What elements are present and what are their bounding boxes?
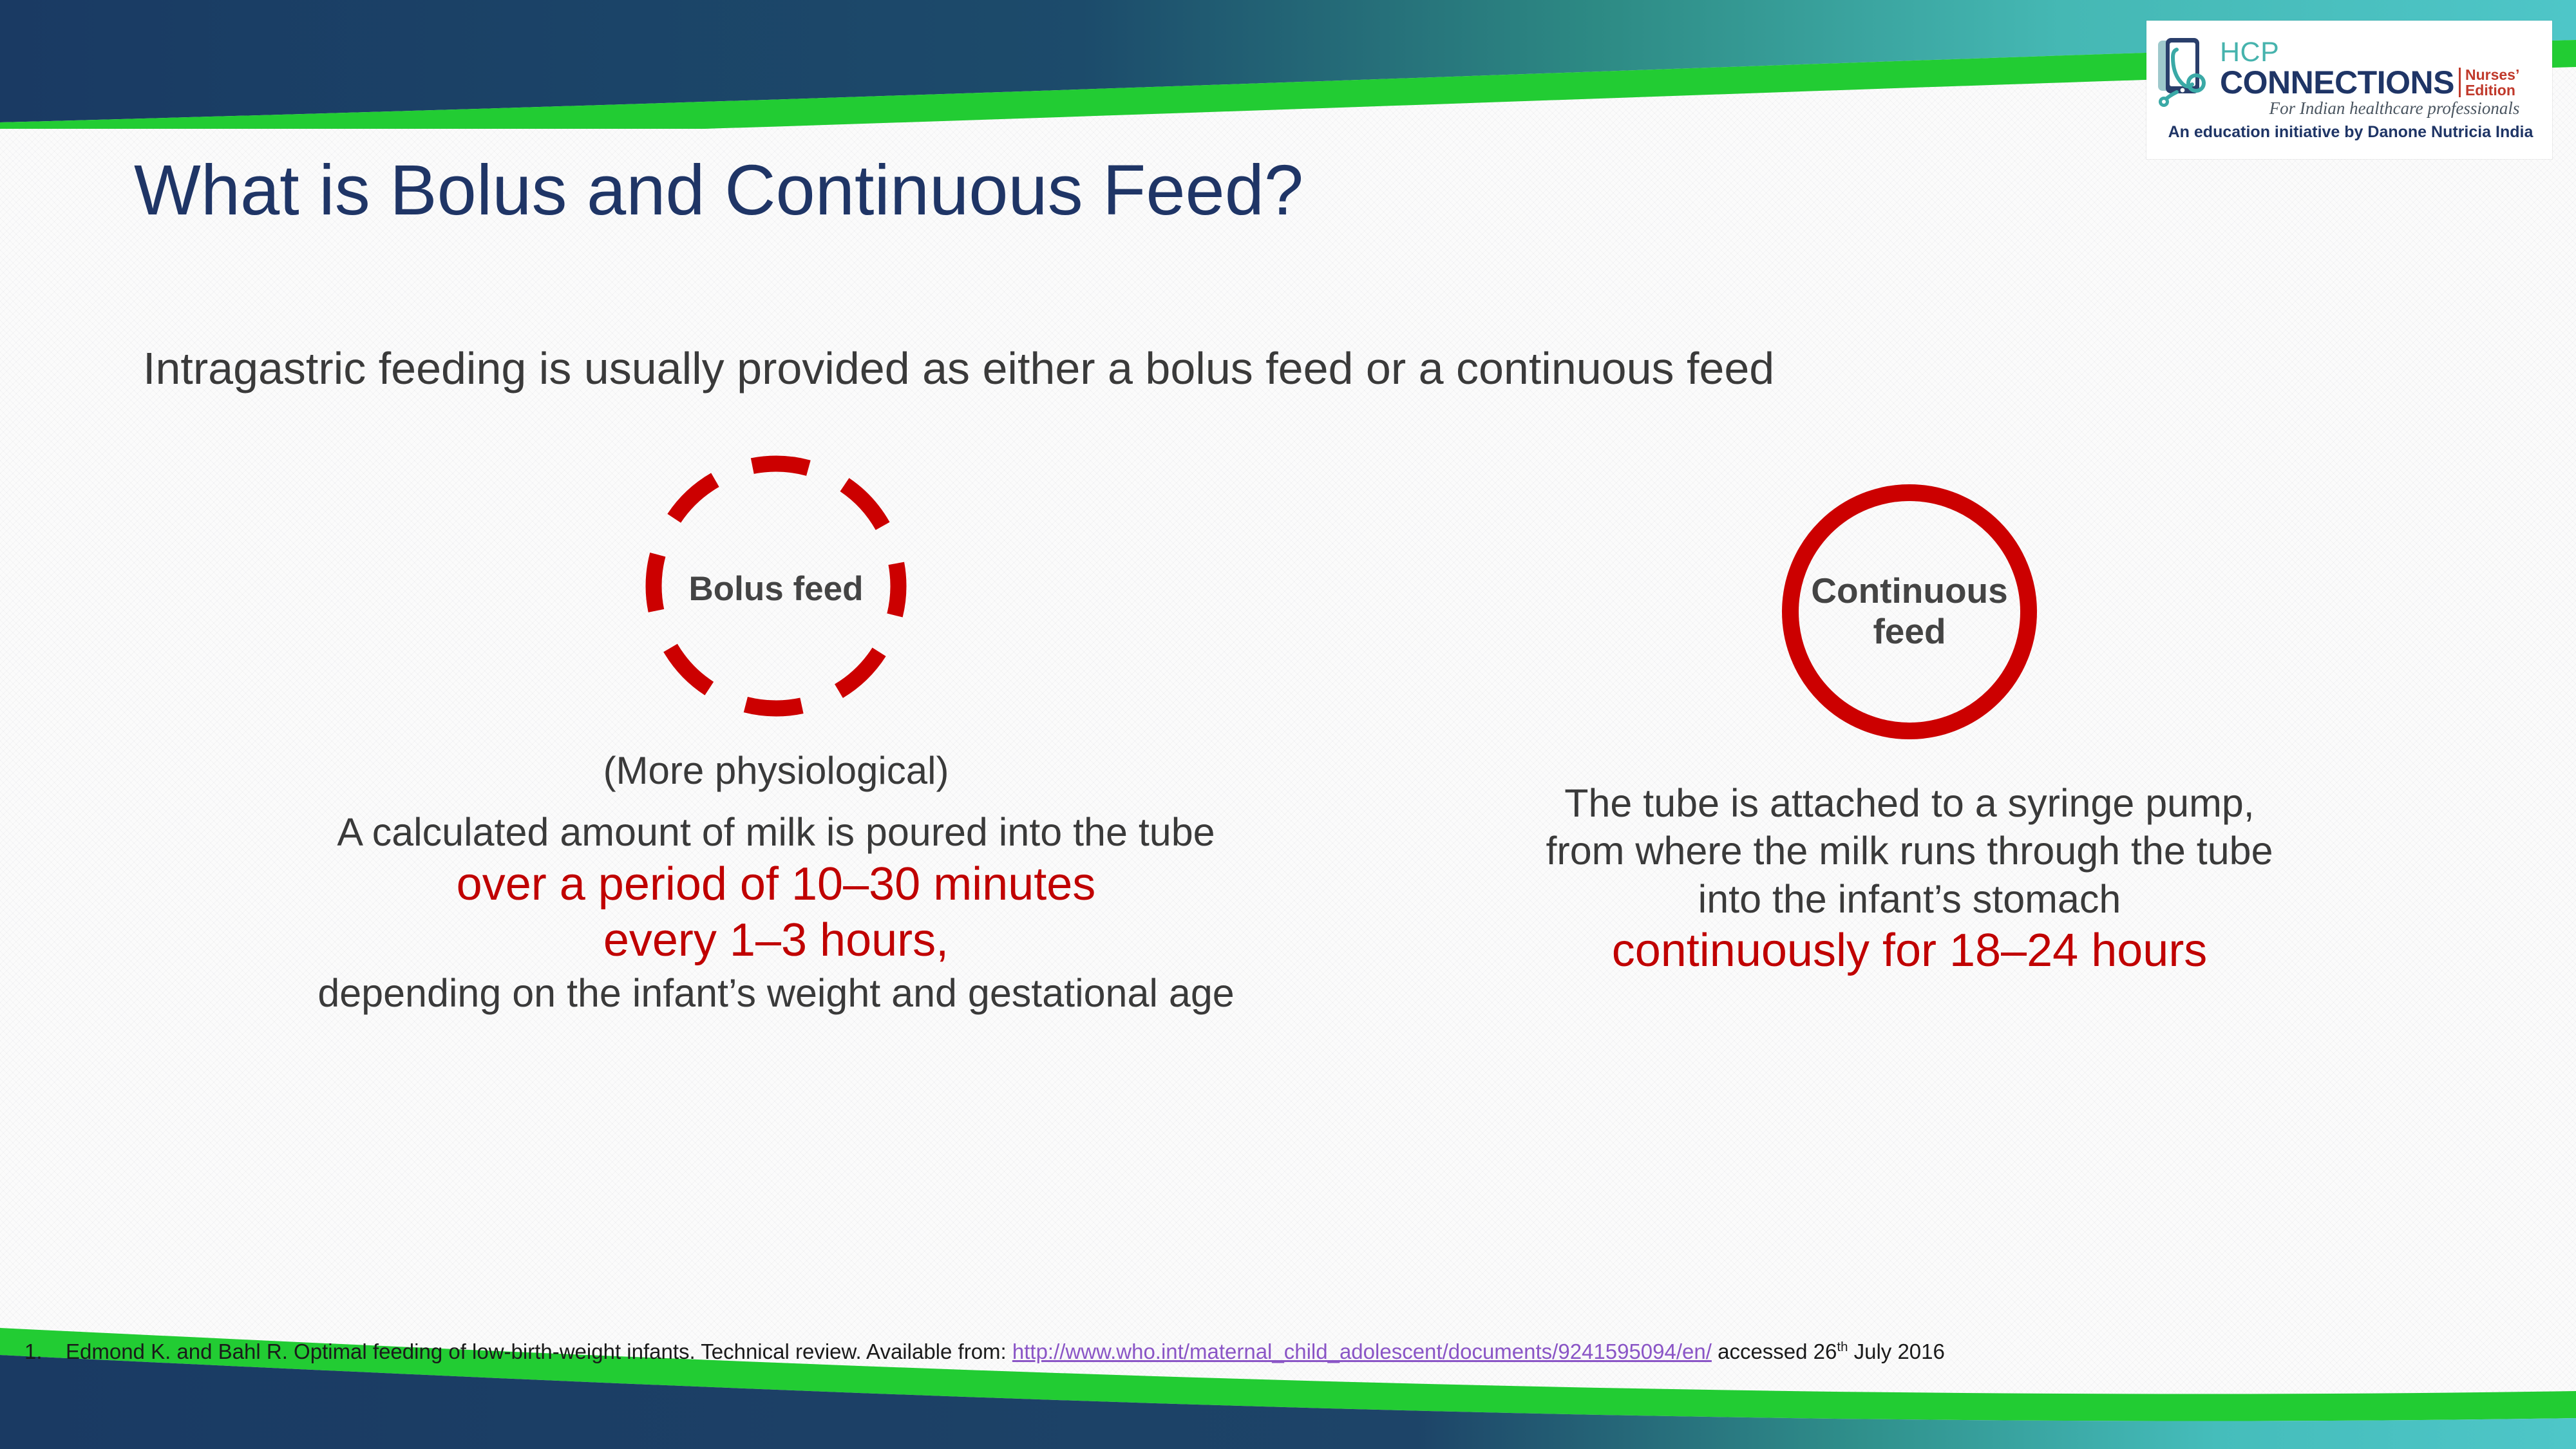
left-line-4: depending on the infant’s weight and ges… <box>187 969 1365 1017</box>
logo-nurses-text: Nurses’ <box>2465 67 2519 82</box>
footnote-url-link[interactable]: http://www.who.int/maternal_child_adoles… <box>1012 1340 1712 1363</box>
left-spacer-1 <box>187 794 1365 808</box>
right-line-3: continuously for 18–24 hours <box>1375 923 2444 980</box>
footnote-body: Edmond K. and Bahl R. Optimal feeding of… <box>66 1340 1945 1364</box>
logo-connections-row: CONNECTIONS Nurses’ Edition <box>2220 66 2519 99</box>
continuous-feed-circle-group: Continuous feed <box>1375 477 2444 747</box>
bolus-feed-circle-group: Bolus feed <box>187 451 1365 721</box>
page-title: What is Bolus and Continuous Feed? <box>134 149 1303 231</box>
reference-footnote: 1. Edmond K. and Bahl R. Optimal feeding… <box>24 1340 2407 1364</box>
logo-tagline: For Indian healthcare professionals <box>2220 100 2519 117</box>
tablet-stethoscope-icon <box>2155 37 2215 119</box>
continuous-feed-description: The tube is attached to a syringe pump, … <box>1375 779 2444 980</box>
left-line-3: every 1–3 hours, <box>187 913 1365 969</box>
logo-connections-text: CONNECTIONS <box>2220 66 2454 99</box>
logo-main-row: HCP CONNECTIONS Nurses’ Edition For Indi… <box>2155 37 2546 119</box>
left-line-0: (More physiological) <box>187 747 1365 794</box>
footnote-accessed-prefix: accessed 26 <box>1718 1340 1837 1363</box>
continuous-feed-column: Continuous feed The tube is attached to … <box>1375 477 2444 980</box>
slide-canvas: HCP CONNECTIONS Nurses’ Edition For Indi… <box>0 0 2576 1449</box>
logo-hcp-text: HCP <box>2220 39 2519 66</box>
bolus-feed-column: Bolus feed (More physiological) A calcul… <box>187 451 1365 1018</box>
bolus-feed-label: Bolus feed <box>187 570 1365 609</box>
logo-nurses-edition: Nurses’ Edition <box>2465 66 2519 99</box>
footnote-citation: Edmond K. and Bahl R. Optimal feeding of… <box>66 1340 1007 1363</box>
page-subtitle: Intragastric feeding is usually provided… <box>143 343 1774 394</box>
left-line-1: A calculated amount of milk is poured in… <box>187 808 1365 856</box>
hcp-connections-logo: HCP CONNECTIONS Nurses’ Edition For Indi… <box>2146 21 2552 159</box>
footnote-accessed-suffix: July 2016 <box>1848 1340 1944 1363</box>
continuous-feed-label: Continuous feed <box>1375 571 2444 652</box>
bolus-feed-description: (More physiological) A calculated amount… <box>187 747 1365 1018</box>
logo-wordmark: HCP CONNECTIONS Nurses’ Edition For Indi… <box>2220 39 2519 117</box>
continuous-feed-label-line1: Continuous <box>1811 571 2007 611</box>
footnote-accessed-superscript: th <box>1837 1340 1848 1354</box>
right-line-1: from where the milk runs through the tub… <box>1375 827 2444 875</box>
logo-edition-text: Edition <box>2465 82 2519 98</box>
continuous-feed-label-line2: feed <box>1873 611 1946 651</box>
logo-subline: An education initiative by Danone Nutric… <box>2155 123 2546 142</box>
left-line-2: over a period of 10–30 minutes <box>187 857 1365 913</box>
right-line-0: The tube is attached to a syringe pump, <box>1375 779 2444 827</box>
footnote-number: 1. <box>24 1340 52 1364</box>
logo-divider <box>2459 68 2461 97</box>
right-line-2: into the infant’s stomach <box>1375 875 2444 923</box>
